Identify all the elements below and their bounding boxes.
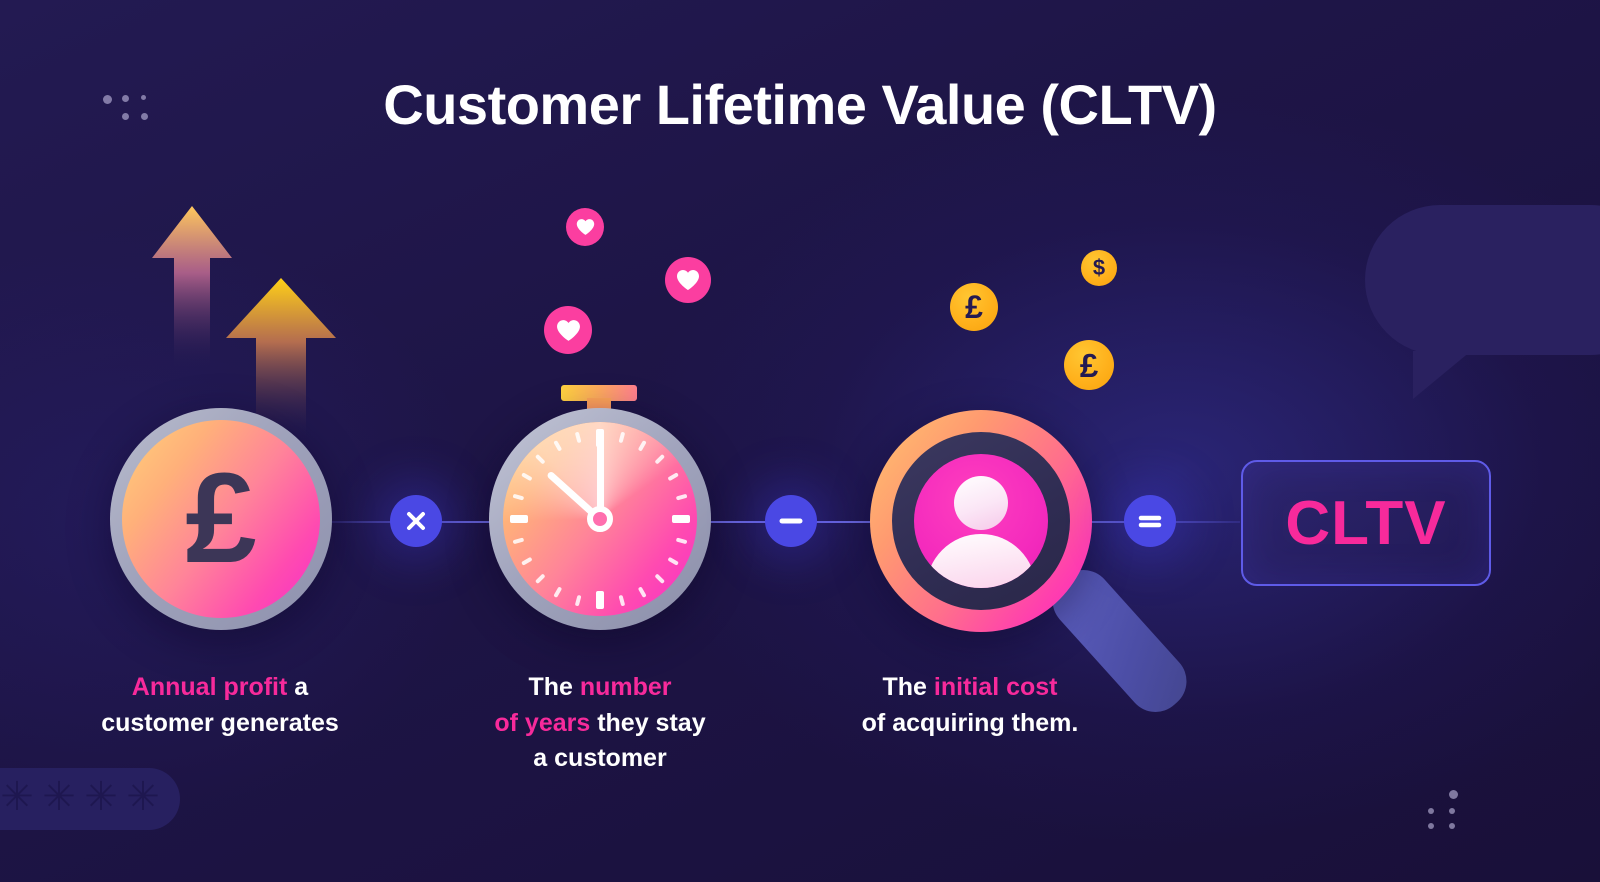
heart-icon <box>576 218 595 236</box>
floating-coin-pound-2: £ <box>1064 340 1114 390</box>
avatar-body <box>926 534 1036 588</box>
floating-coin-dollar: $ <box>1081 250 1117 286</box>
heart-badge-1 <box>566 208 604 246</box>
step-2-line2-rest: they stay <box>590 709 705 737</box>
heart-icon <box>676 269 700 291</box>
result-box-cltv[interactable]: CLTV <box>1241 460 1491 586</box>
operator-equals <box>1124 495 1176 547</box>
step-3-highlight: initial cost <box>934 673 1058 701</box>
operator-minus <box>765 495 817 547</box>
infographic-canvas: ✳ ✳ ✳ ✳ <box>0 0 1600 882</box>
dot <box>1449 823 1455 829</box>
stopwatch-tick <box>596 591 604 609</box>
speech-bubble-decoration <box>1365 205 1600 355</box>
heart-icon <box>556 319 581 342</box>
minus-icon <box>779 517 803 525</box>
equals-icon <box>1138 513 1162 529</box>
magnifier-rim <box>892 432 1070 610</box>
dot <box>1449 808 1455 814</box>
step-2-highlight-1: number <box>580 673 672 701</box>
stopwatch-tick <box>672 515 690 523</box>
multiply-icon <box>405 510 427 532</box>
dot <box>1449 790 1458 799</box>
asterisk-icon: ✳ <box>82 780 120 818</box>
dot <box>1428 823 1434 829</box>
asterisk-icon: ✳ <box>124 780 162 818</box>
growth-arrow-1 <box>152 206 232 371</box>
result-label: CLTV <box>1285 488 1446 559</box>
stopwatch-tick <box>510 515 528 523</box>
step-1-caption: Annual profit a customer generates <box>30 670 410 741</box>
step-1-line1-rest: a <box>287 673 308 701</box>
asterisk-icon: ✳ <box>0 780 36 818</box>
page-title: Customer Lifetime Value (CLTV) <box>0 72 1600 137</box>
operator-multiply <box>390 495 442 547</box>
dot-cluster-bottom-right <box>1428 790 1461 829</box>
step-3-caption-line-1: The initial cost <box>810 670 1130 706</box>
step-2-caption-line-3: a customer <box>430 741 770 777</box>
step-1-caption-line-1: Annual profit a <box>30 670 410 706</box>
magnifier-lens <box>914 454 1048 588</box>
step-2-caption: The number of years they stay a customer <box>430 670 770 777</box>
step-1-pound-coin[interactable]: £ <box>110 408 332 630</box>
heart-badge-2 <box>665 257 711 303</box>
step-1-highlight: Annual profit <box>132 673 288 701</box>
floating-coin-pound-1: £ <box>950 283 998 331</box>
step-1-caption-line-2: customer generates <box>30 706 410 742</box>
step-2-caption-line-2: of years they stay <box>430 706 770 742</box>
heart-badge-3 <box>544 306 592 354</box>
magnifier-person-icon <box>870 410 1092 632</box>
step-3-line1-plain: The <box>882 673 933 701</box>
step-2-line1-plain: The <box>528 673 579 701</box>
step-3-caption: The initial cost of acquiring them. <box>810 670 1130 741</box>
dot <box>1428 808 1434 814</box>
stopwatch-icon <box>503 422 697 616</box>
step-2-caption-line-1: The number <box>430 670 770 706</box>
avatar-head <box>954 476 1008 530</box>
step-2-highlight-2: of years <box>494 709 590 737</box>
pound-coin-icon: £ <box>122 420 320 618</box>
asterisk-icon: ✳ <box>40 780 78 818</box>
asterisk-pill-decoration: ✳ ✳ ✳ ✳ <box>0 768 180 830</box>
step-3-caption-line-2: of acquiring them. <box>810 706 1130 742</box>
stopwatch-hub <box>587 506 613 532</box>
step-2-stopwatch[interactable] <box>489 408 711 630</box>
